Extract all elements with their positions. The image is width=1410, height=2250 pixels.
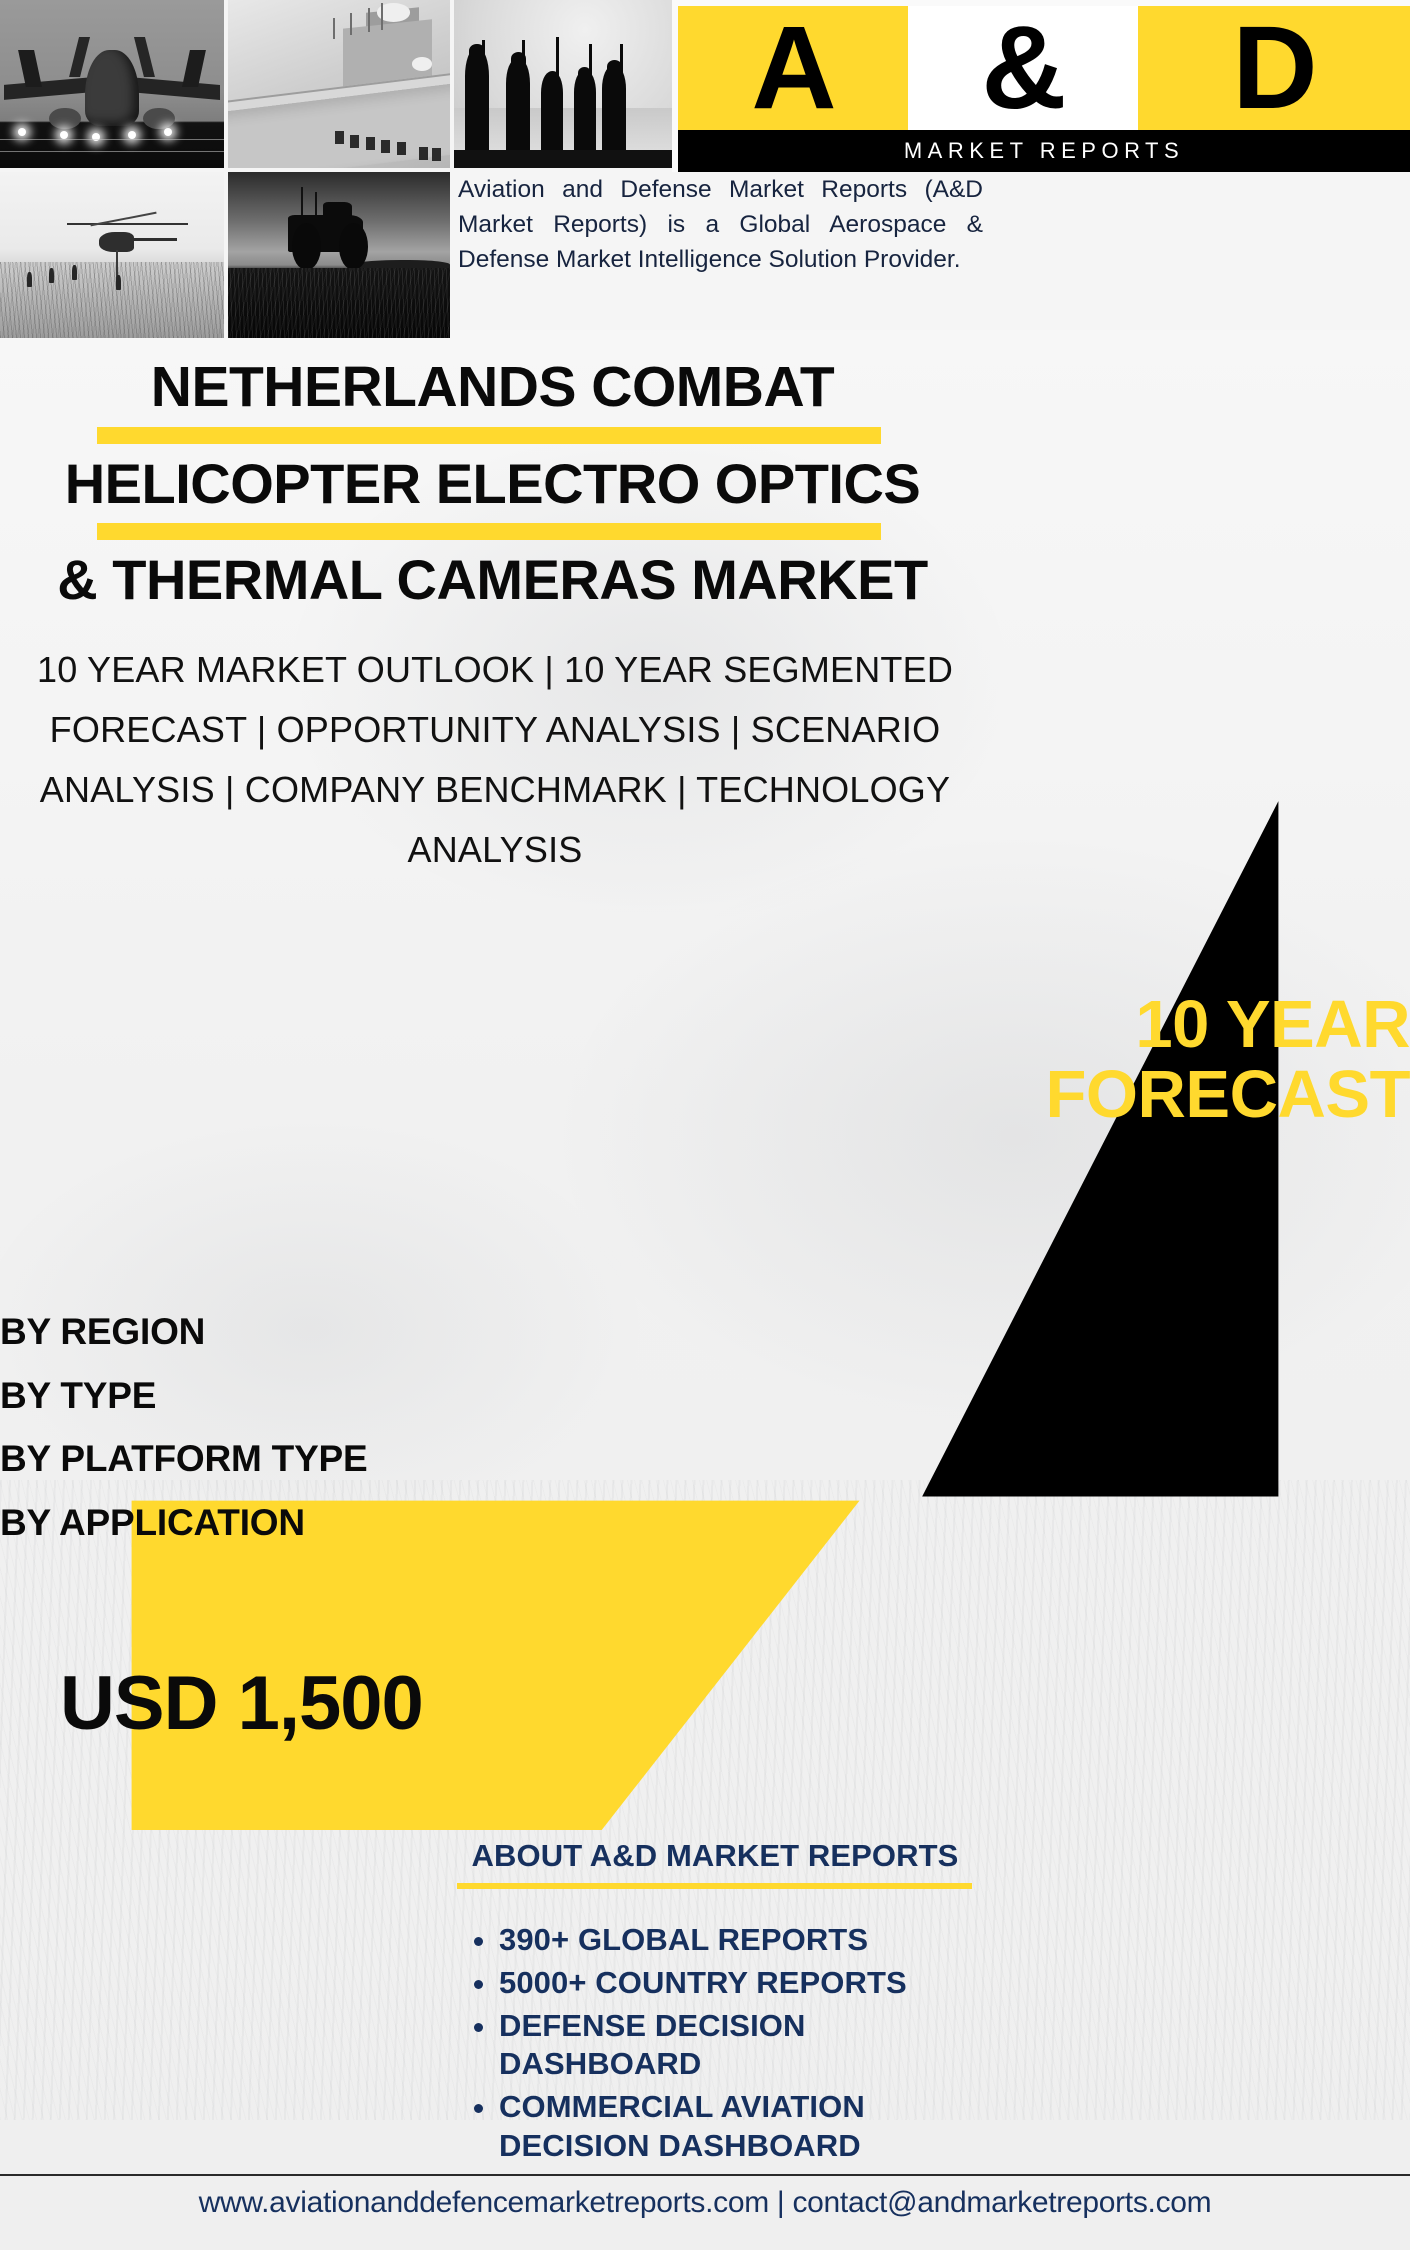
forecast-badge-line-2: FORECAST	[1035, 1060, 1410, 1130]
photo-grid	[0, 0, 672, 338]
title-rule-2	[97, 523, 881, 540]
segment-item-2: BY PLATFORM TYPE	[0, 1427, 620, 1491]
logo-tile-d: D	[1138, 6, 1410, 130]
report-subtitle: 10 YEAR MARKET OUTLOOK | 10 YEAR SEGMENT…	[20, 640, 970, 880]
segment-item-0: BY REGION	[0, 1300, 620, 1364]
photo-soldier-silhouettes	[454, 0, 672, 168]
photo-aircraft-carrier-island	[228, 0, 450, 168]
footer-contact: www.aviationanddefencemarketreports.com …	[0, 2186, 1410, 2220]
title-rule-1	[97, 427, 881, 444]
title-line-2: HELICOPTER ELECTRO OPTICS	[0, 455, 985, 512]
logo-letter-d: D	[1232, 9, 1315, 127]
logo-tagline: MARKET REPORTS	[904, 138, 1184, 164]
photo-helicopter-over-field	[0, 172, 224, 338]
about-block: ABOUT A&D MARKET REPORTS 390+ GLOBAL REP…	[455, 1838, 975, 2170]
segment-item-3: BY APPLICATION	[0, 1491, 620, 1555]
brand-logo: A & D MARKET REPORTS	[672, 0, 1410, 172]
about-bullet-2: DEFENSE DECISION DASHBOARD	[499, 2007, 975, 2085]
about-bullet-3: COMMERCIAL AVIATION DECISION DASHBOARD	[499, 2088, 975, 2166]
about-heading: ABOUT A&D MARKET REPORTS	[455, 1838, 975, 1874]
photo-fighter-jet-on-carrier-deck	[0, 0, 224, 168]
logo-letter-ampersand: &	[981, 9, 1064, 127]
forecast-badge: 10 YEAR FORECAST	[1035, 990, 1410, 1129]
about-bullet-list: 390+ GLOBAL REPORTS 5000+ COUNTRY REPORT…	[499, 1921, 975, 2166]
forecast-badge-line-1: 10 YEAR	[1035, 990, 1410, 1060]
about-bullet-0: 390+ GLOBAL REPORTS	[499, 1921, 975, 1960]
about-heading-underline	[457, 1883, 972, 1889]
logo-letter-a: A	[751, 9, 834, 127]
segmentation-list: BY REGION BY TYPE BY PLATFORM TYPE BY AP…	[0, 1300, 620, 1555]
intro-paragraph: Aviation and Defense Market Reports (A&D…	[458, 172, 983, 277]
about-bullet-1: 5000+ COUNTRY REPORTS	[499, 1964, 975, 2003]
footer-divider	[0, 2174, 1410, 2176]
logo-tile-ampersand: &	[908, 6, 1138, 130]
logo-tile-a: A	[678, 6, 908, 130]
price-value: USD 1,500	[60, 1661, 423, 1746]
title-line-1: NETHERLANDS COMBAT	[0, 358, 985, 416]
price-block: USD 1,500	[60, 1660, 510, 1747]
report-title: NETHERLANDS COMBAT HELICOPTER ELECTRO OP…	[0, 358, 985, 608]
segment-item-1: BY TYPE	[0, 1364, 620, 1428]
poster-root: A & D MARKET REPORTS Aviation and Defens…	[0, 0, 1410, 2250]
logo-tagline-bar: MARKET REPORTS	[678, 130, 1410, 172]
title-line-3: & THERMAL CAMERAS MARKET	[0, 551, 985, 608]
photo-armoured-vehicle-at-dusk	[228, 172, 450, 338]
